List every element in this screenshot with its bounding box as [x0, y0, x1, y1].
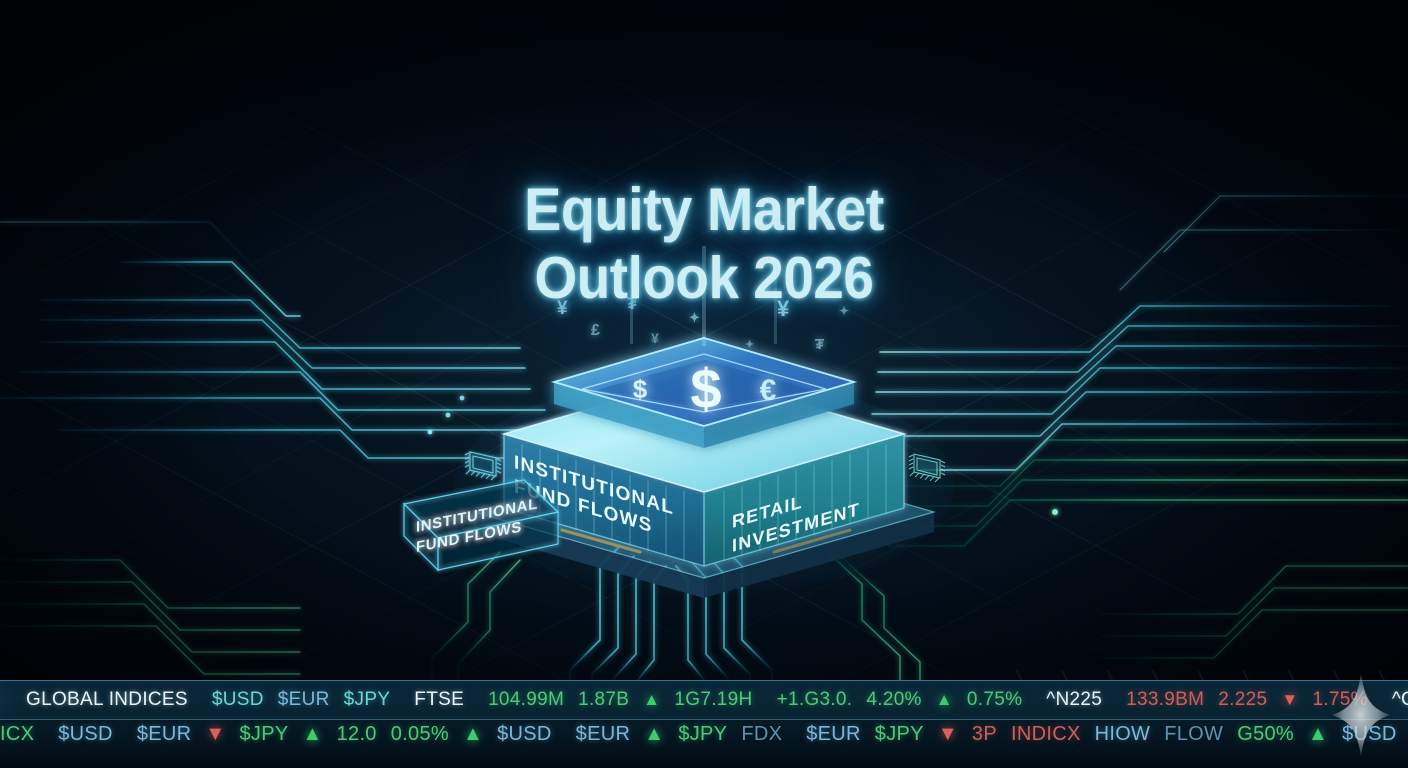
ticker-secondary-item-12: $JPY: [678, 723, 727, 746]
ticker-primary-item-5: 104.99M: [488, 689, 564, 711]
ticker-secondary-item-19: HIOW: [1095, 723, 1151, 746]
ticker-secondary-item-21: G50%: [1237, 723, 1294, 746]
ticker-primary-item-8: 1G7.19H: [674, 689, 752, 711]
ticker-primary-item-16: ▼: [1281, 690, 1298, 710]
ticker-row-primary[interactable]: GLOBAL INDICES$USD$EUR$JPYFTSE104.99M1.8…: [0, 680, 1408, 720]
ticker-secondary-item-1: $USD: [58, 723, 113, 746]
ticker-primary-item-15: 2.225: [1218, 689, 1267, 711]
ticker-secondary-item-14: $EUR: [806, 723, 861, 746]
ticker-secondary-item-4: $JPY: [239, 723, 288, 746]
ticker-primary-item-6: 1.87B: [578, 689, 629, 711]
ticker-primary-item-17: 1.75%: [1312, 689, 1367, 711]
ticker-secondary-item-16: ▼: [938, 723, 958, 746]
ticker-secondary-item-2: $EUR: [137, 723, 192, 746]
ticker-primary-item-1: $USD: [212, 689, 264, 711]
ticker-primary-item-12: 0.75%: [967, 689, 1022, 711]
ticker-primary-item-13: ^N225: [1046, 689, 1102, 711]
ticker-secondary-item-9: $USD: [497, 723, 552, 746]
ticker-primary-item-9: +1.G3.0.: [777, 689, 853, 711]
ticker-secondary-item-10: $EUR: [576, 723, 631, 746]
dollar-symbol-small: $: [633, 374, 648, 404]
ticker-secondary-item-15: $JPY: [875, 723, 924, 746]
ticker-secondary-item-8: ▲: [463, 723, 483, 746]
dollar-symbol-large: $: [690, 357, 721, 420]
ticker-primary-item-7: ▲: [643, 690, 660, 710]
ticker-primary-item-11: ▲: [936, 690, 953, 710]
ticker-primary-item-3: $JPY: [344, 689, 391, 711]
ticker-secondary-item-23: $USD: [1342, 723, 1397, 746]
institutional-fund-flows-panel: INSTITUTIONAL FUND FLOWS: [398, 478, 564, 596]
ticker-secondary-item-7: 0.05%: [391, 723, 449, 746]
ticker-row-secondary[interactable]: ICX$USD$EUR▼$JPY▲12.00.05%▲$USD$EUR▲$JPY…: [0, 720, 1408, 768]
ticker-secondary-item-13: FDX: [741, 723, 782, 746]
ticker-secondary-item-6: 12.0: [337, 723, 377, 746]
poster-stage: ¥£₮¥✦¥✦₮✦$: [0, 0, 1408, 768]
ticker-primary-item-4: FTSE: [414, 689, 464, 711]
title-line-1: Equity Market: [49, 176, 1358, 244]
ticker-primary-item-18: ^GSPC: [1392, 689, 1408, 711]
ticker-secondary-item-5: ▲: [303, 723, 323, 746]
ticker-secondary-item-3: ▼: [205, 723, 225, 746]
ticker-secondary-item-11: ▲: [644, 723, 664, 746]
ticker-primary-item-2: $EUR: [278, 689, 330, 711]
ticker-secondary-item-20: FLOW: [1164, 723, 1223, 746]
ticker-secondary-item-22: ▲: [1308, 723, 1328, 746]
ticker-secondary-item-17: 3P: [972, 723, 997, 746]
ticker-secondary-item-18: INDICX: [1011, 723, 1081, 746]
market-ticker-zone: GLOBAL INDICES$USD$EUR$JPYFTSE104.99M1.8…: [0, 680, 1408, 768]
ticker-primary-item-10: 4.20%: [866, 689, 921, 711]
ticker-primary-item-14: 133.9BM: [1126, 689, 1204, 711]
ticker-secondary-item-0: ICX: [0, 723, 34, 746]
euro-symbol: €: [760, 374, 777, 407]
ticker-primary-item-0: GLOBAL INDICES: [26, 689, 188, 711]
